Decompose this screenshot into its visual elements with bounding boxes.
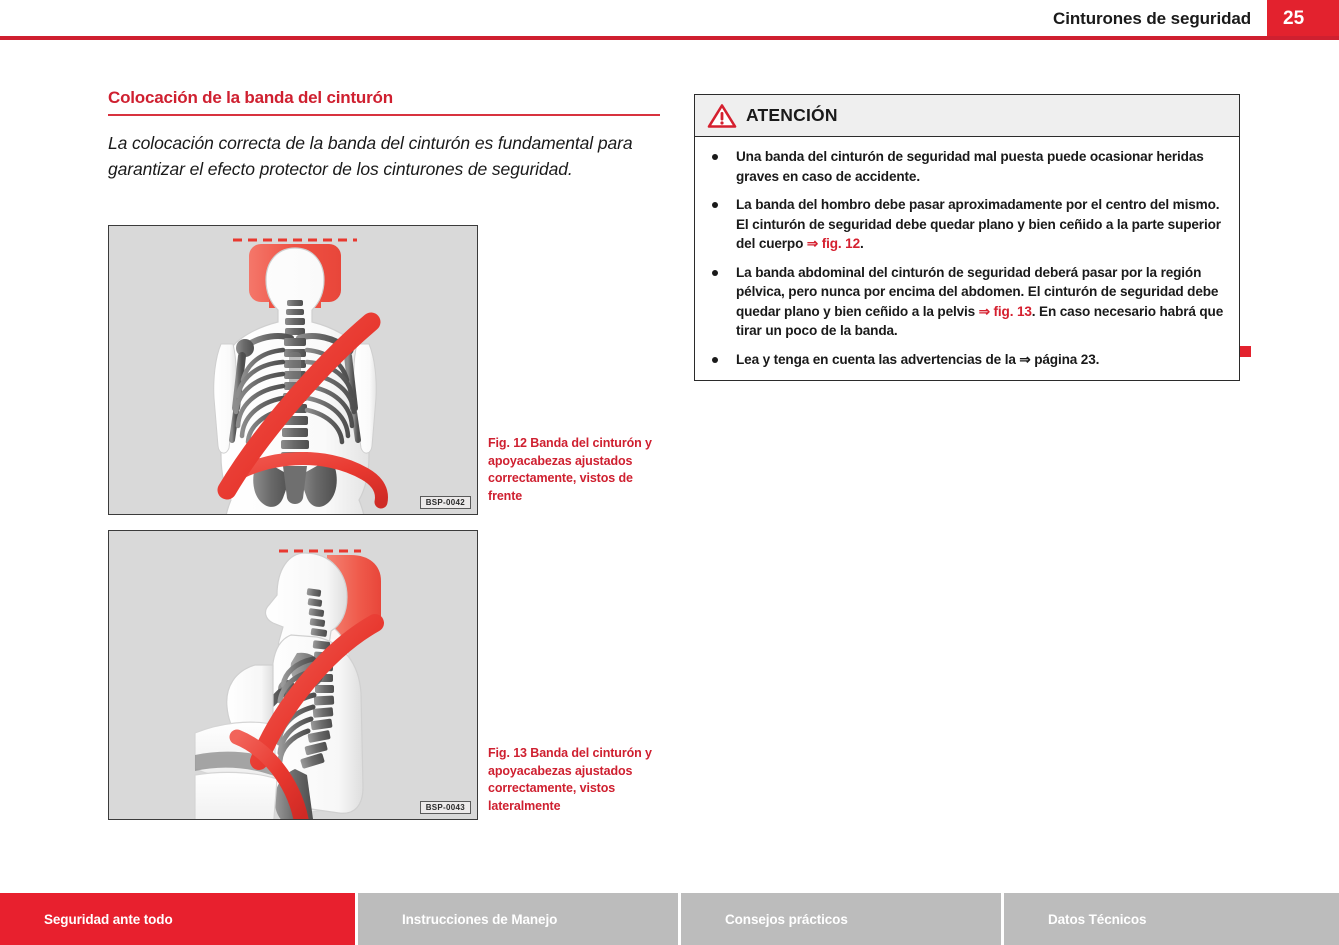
cross-reference-fig-12[interactable]: ⇒ fig. 12 [807, 236, 860, 251]
warning-header: ATENCIÓN [695, 95, 1239, 137]
warning-body: Una banda del cinturón de seguridad mal … [695, 137, 1239, 380]
footer-navigation: Seguridad ante todo Instrucciones de Man… [0, 893, 1339, 945]
figure-13: BSP-0043 Fig. 13 Banda del cinturón y ap… [108, 530, 664, 822]
header-divider [0, 36, 1339, 40]
figure-12-code: BSP-0042 [420, 496, 471, 509]
figure-12: BSP-0042 Fig. 12 Banda del cinturón y ap… [108, 225, 664, 517]
warning-title: ATENCIÓN [746, 105, 838, 126]
bullet-icon [712, 202, 718, 208]
warning-box: ATENCIÓN Una banda del cinturón de segur… [694, 94, 1240, 381]
footer-tab-instrucciones-de-manejo[interactable]: Instrucciones de Manejo [358, 893, 678, 945]
footer-tab-label: Datos Técnicos [1004, 912, 1146, 927]
bullet-icon [712, 357, 718, 363]
footer-tab-seguridad-ante-todo[interactable]: Seguridad ante todo [0, 893, 355, 945]
warning-item: La banda del hombro debe pasar aproximad… [709, 195, 1225, 254]
footer-tab-label: Instrucciones de Manejo [358, 912, 557, 927]
left-column: Colocación de la banda del cinturón La c… [108, 88, 660, 182]
front-view-skeleton-illustration [109, 226, 477, 514]
bullet-icon [712, 270, 718, 276]
warning-triangle-icon [707, 103, 737, 129]
warning-item: Lea y tenga en cuenta las advertencias d… [709, 350, 1225, 370]
figure-13-code: BSP-0043 [420, 801, 471, 814]
figure-12-caption: Fig. 12 Banda del cinturón y apoyacabeza… [488, 435, 664, 505]
footer-tab-datos-tecnicos[interactable]: Datos Técnicos [1004, 893, 1339, 945]
figure-13-image: BSP-0043 [108, 530, 478, 820]
heading-divider [108, 114, 660, 116]
warning-item: Una banda del cinturón de seguridad mal … [709, 147, 1225, 186]
footer-tab-label: Seguridad ante todo [0, 912, 173, 927]
page-title: Cinturones de seguridad [1053, 9, 1251, 29]
section-end-marker [1240, 346, 1251, 357]
warning-item-text: Una banda del cinturón de seguridad mal … [736, 149, 1204, 184]
warning-item-text: Lea y tenga en cuenta las advertencias d… [736, 352, 1099, 367]
warning-item-text-tail: . [860, 236, 864, 251]
figure-13-caption: Fig. 13 Banda del cinturón y apoyacabeza… [488, 745, 664, 815]
intro-paragraph: La colocación correcta de la banda del c… [108, 130, 660, 182]
cross-reference-fig-13[interactable]: ⇒ fig. 13 [979, 304, 1032, 319]
bullet-icon [712, 154, 718, 160]
side-view-skeleton-illustration [109, 531, 477, 820]
section-heading: Colocación de la banda del cinturón [108, 88, 660, 114]
page-number-badge: 25 [1267, 0, 1339, 38]
page-number: 25 [1283, 8, 1304, 30]
footer-tab-consejos-practicos[interactable]: Consejos prácticos [681, 893, 1001, 945]
manual-page: Cinturones de seguridad 25 Colocación de… [0, 0, 1339, 945]
page-header: Cinturones de seguridad 25 [0, 0, 1339, 38]
warning-item: La banda abdominal del cinturón de segur… [709, 263, 1225, 341]
footer-tab-label: Consejos prácticos [681, 912, 848, 927]
figure-12-image: BSP-0042 [108, 225, 478, 515]
